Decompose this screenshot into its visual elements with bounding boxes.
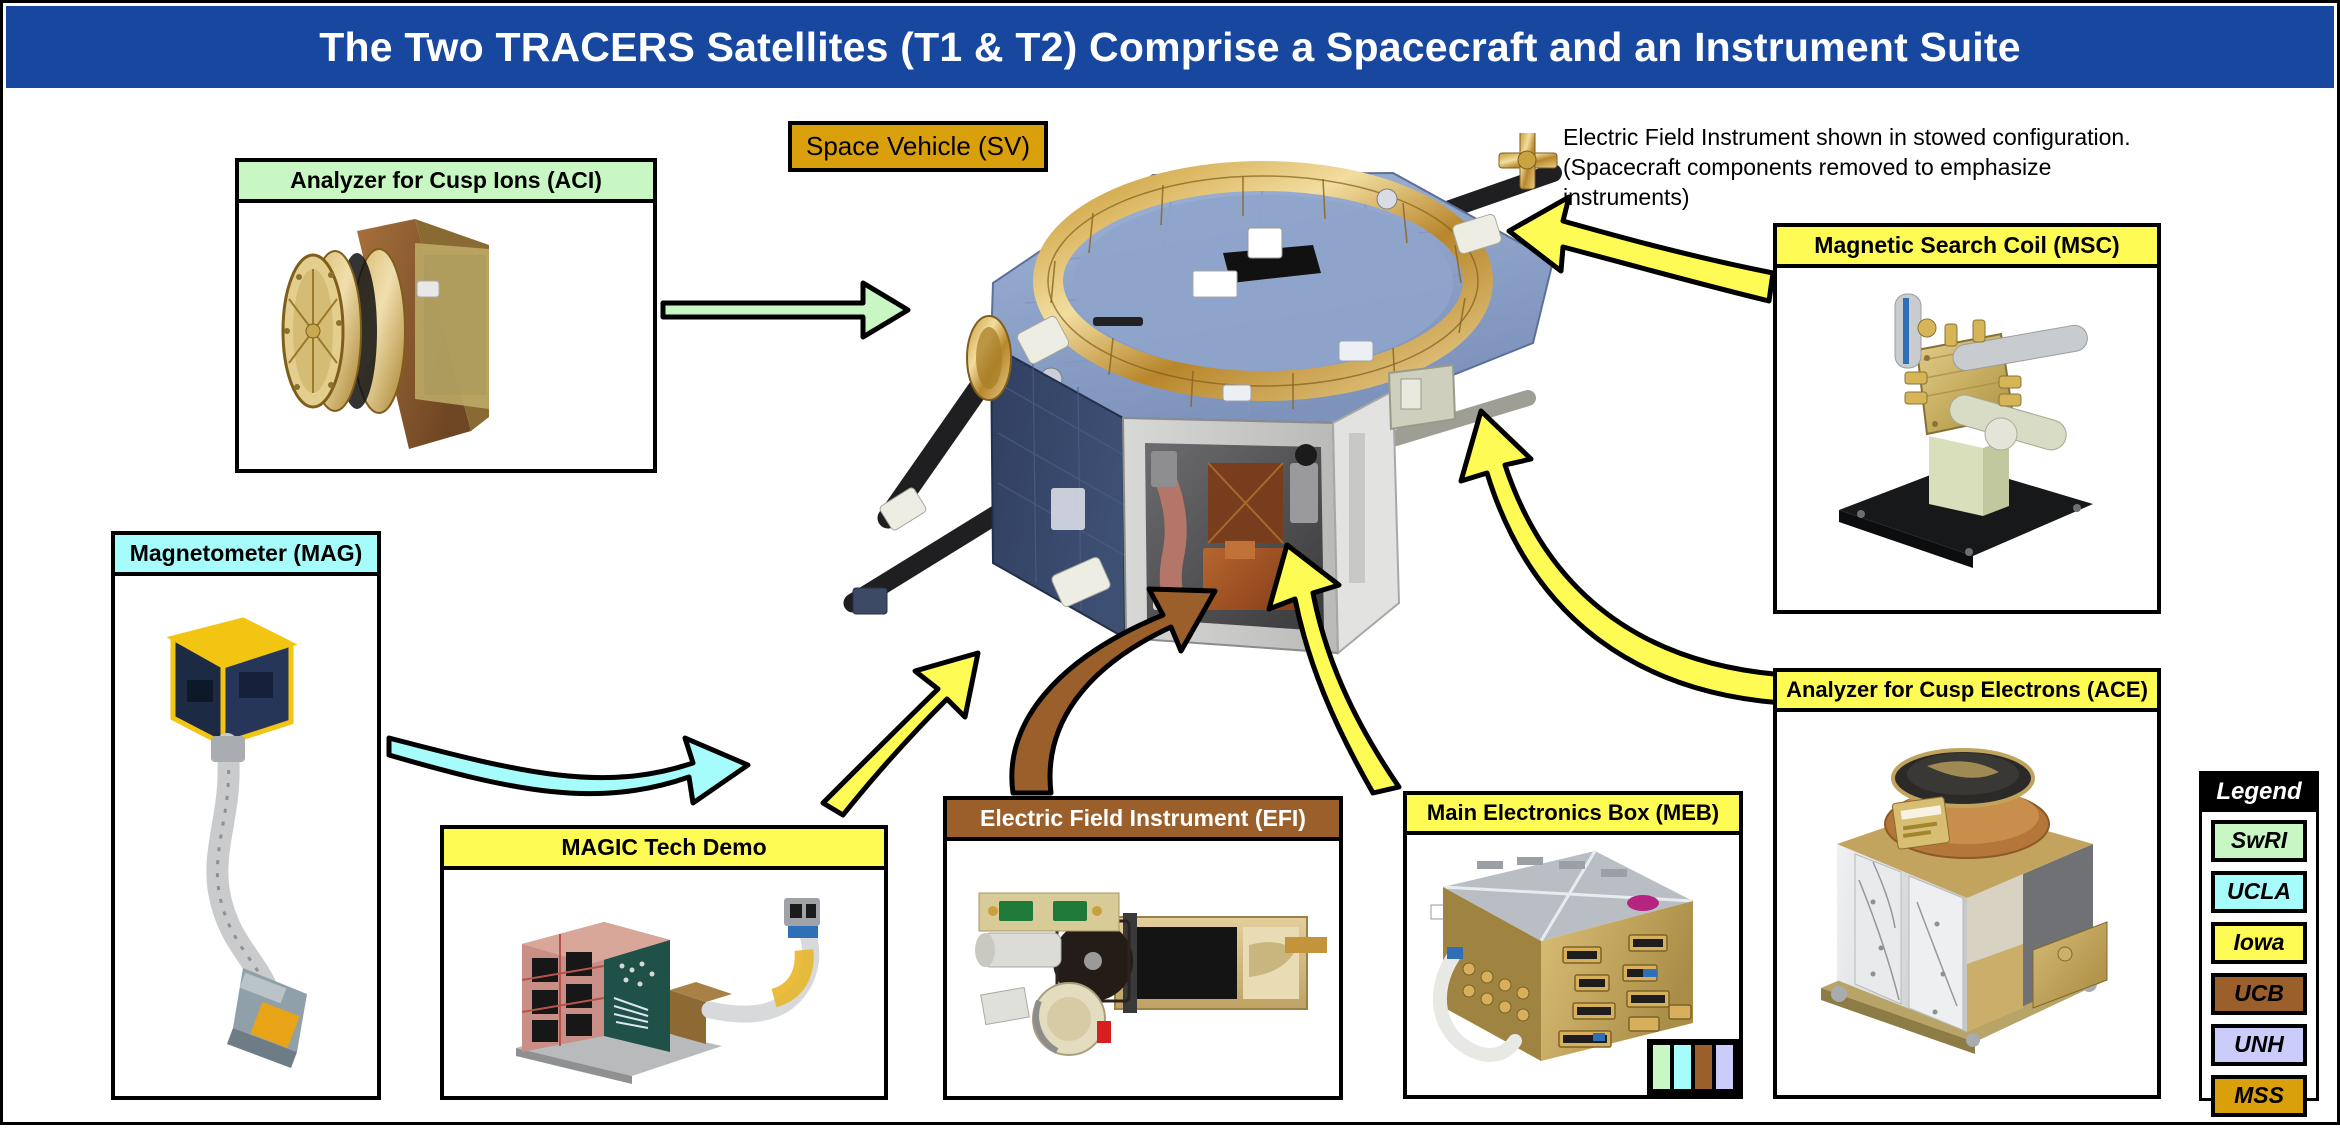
panel-aci[interactable]: Analyzer for Cusp Ions (ACI) bbox=[235, 158, 657, 474]
legend-item-ucla: UCLA bbox=[2211, 871, 2307, 913]
panel-msc-image bbox=[1773, 268, 2161, 614]
legend-item-ucb: UCB bbox=[2211, 973, 2307, 1015]
legend-item-iowa: Iowa bbox=[2211, 922, 2307, 964]
panel-ace-image bbox=[1773, 712, 2161, 1099]
chip-ucla bbox=[1674, 1045, 1691, 1089]
spacecraft-illustration bbox=[793, 133, 1623, 773]
ace-instrument-photo bbox=[1777, 712, 2157, 1095]
legend-items: SwRI UCLA Iowa UCB UNH MSS bbox=[2202, 812, 2316, 1127]
panel-meb-label: Main Electronics Box (MEB) bbox=[1403, 791, 1743, 835]
spacecraft-render bbox=[793, 133, 1623, 773]
legend-item-swri: SwRI bbox=[2211, 820, 2307, 862]
panel-meb[interactable]: Main Electronics Box (MEB) bbox=[1403, 791, 1743, 1101]
panel-magic-label: MAGIC Tech Demo bbox=[440, 825, 888, 870]
panel-meb-image bbox=[1403, 835, 1743, 1099]
side-panel-right bbox=[1333, 391, 1399, 653]
legend-heading: Legend bbox=[2202, 774, 2316, 812]
legend-item-mss: MSS bbox=[2211, 1075, 2307, 1117]
msc-instrument-photo bbox=[1777, 268, 2157, 610]
panel-efi-image bbox=[943, 841, 1343, 1100]
space-vehicle-tag: Space Vehicle (SV) bbox=[788, 121, 1048, 172]
panel-efi-label: Electric Field Instrument (EFI) bbox=[943, 796, 1343, 841]
chip-swri bbox=[1653, 1045, 1670, 1089]
panel-magic[interactable]: MAGIC Tech Demo bbox=[440, 825, 888, 1101]
panel-msc-label: Magnetic Search Coil (MSC) bbox=[1773, 223, 2161, 268]
panel-efi[interactable]: Electric Field Instrument (EFI) bbox=[943, 796, 1343, 1101]
aci-instrument-photo bbox=[239, 203, 653, 469]
magic-instrument-photo bbox=[444, 870, 884, 1096]
slide-canvas: The Two TRACERS Satellites (T1 & T2) Com… bbox=[0, 0, 2340, 1125]
page-title: The Two TRACERS Satellites (T1 & T2) Com… bbox=[319, 24, 2021, 71]
panel-ace-label: Analyzer for Cusp Electrons (ACE) bbox=[1773, 668, 2161, 712]
arrow-mag bbox=[389, 738, 748, 803]
panel-aci-label: Analyzer for Cusp Ions (ACI) bbox=[235, 158, 657, 203]
panel-mag-image bbox=[111, 576, 381, 1100]
mag-instrument-photo bbox=[115, 576, 377, 1096]
chip-unh bbox=[1716, 1045, 1733, 1089]
chip-ucb bbox=[1695, 1045, 1712, 1089]
panel-msc[interactable]: Magnetic Search Coil (MSC) bbox=[1773, 223, 2161, 615]
legend: Legend SwRI UCLA Iowa UCB UNH MSS bbox=[2199, 771, 2319, 1101]
panel-ace[interactable]: Analyzer for Cusp Electrons (ACE) bbox=[1773, 668, 2161, 1101]
meb-color-chips bbox=[1647, 1039, 1739, 1095]
panel-mag[interactable]: Magnetometer (MAG) bbox=[111, 531, 381, 1101]
panel-aci-image bbox=[235, 203, 657, 473]
magnetometer-on-boom bbox=[853, 588, 887, 614]
efi-instrument-photo bbox=[947, 841, 1339, 1096]
panel-mag-label: Magnetometer (MAG) bbox=[111, 531, 381, 576]
efi-stowed-note: Electric Field Instrument shown in stowe… bbox=[1563, 123, 2183, 213]
legend-item-unh: UNH bbox=[2211, 1024, 2307, 1066]
mag-sensor bbox=[173, 620, 291, 744]
slide-title-bar: The Two TRACERS Satellites (T1 & T2) Com… bbox=[6, 6, 2334, 88]
panel-magic-image bbox=[440, 870, 888, 1100]
